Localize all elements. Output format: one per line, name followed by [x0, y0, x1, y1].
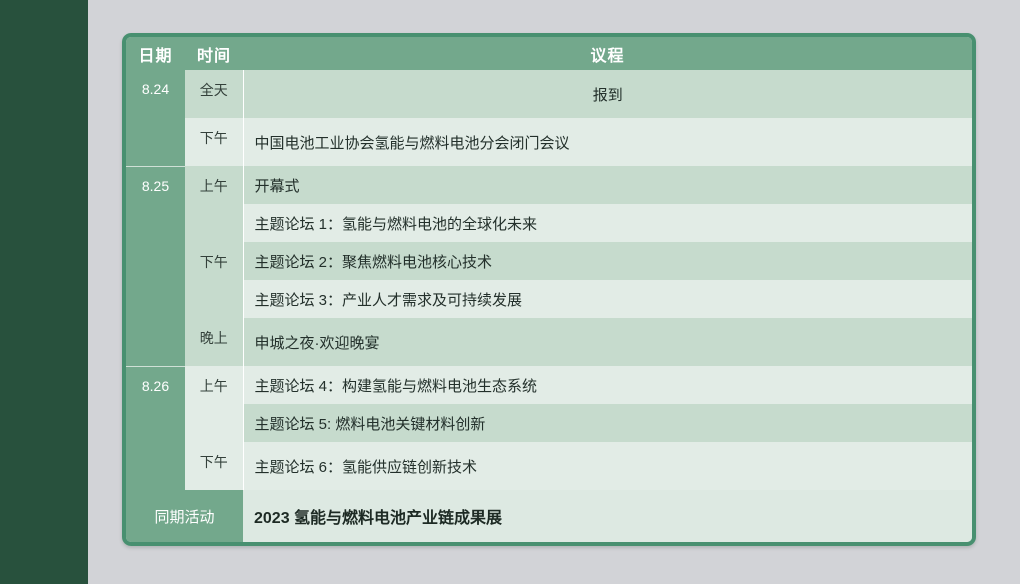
- agenda-cell: 报到: [243, 70, 972, 118]
- concurrent-event-agenda: 2023 氢能与燃料电池产业链成果展: [243, 490, 972, 542]
- table-row: 主题论坛 5: 燃料电池关键材料创新: [126, 404, 972, 442]
- time-cell: 下午: [185, 242, 243, 318]
- date-cell-825: 8.25: [126, 166, 185, 366]
- column-header-date: 日期: [126, 37, 185, 70]
- table-row: 8.25 上午 开幕式: [126, 166, 972, 204]
- table-row: 下午 中国电池工业协会氢能与燃料电池分会闭门会议: [126, 118, 972, 166]
- time-cell: 下午: [185, 442, 243, 490]
- time-cell: 下午: [185, 118, 243, 166]
- table-row: 下午 主题论坛 2：聚焦燃料电池核心技术: [126, 242, 972, 280]
- agenda-cell: 主题论坛 5: 燃料电池关键材料创新: [243, 404, 972, 442]
- agenda-cell: 主题论坛 4：构建氢能与燃料电池生态系统: [243, 366, 972, 404]
- agenda-cell: 中国电池工业协会氢能与燃料电池分会闭门会议: [243, 118, 972, 166]
- header-row: 日期 时间 议程: [126, 37, 972, 70]
- time-cell: 上午: [185, 166, 243, 242]
- time-cell: 晚上: [185, 318, 243, 366]
- date-cell-824: 8.24: [126, 70, 185, 166]
- table-row: 8.24 全天 报到: [126, 70, 972, 118]
- table-row: 主题论坛 3：产业人才需求及可持续发展: [126, 280, 972, 318]
- concurrent-event-row: 同期活动 2023 氢能与燃料电池产业链成果展: [126, 490, 972, 542]
- schedule-card: 日期 时间 议程 8.24 全天 报到 下午 中国电池工业协会氢能与燃料电池分会…: [122, 33, 976, 546]
- agenda-cell: 主题论坛 1：氢能与燃料电池的全球化未来: [243, 204, 972, 242]
- date-cell-826: 8.26: [126, 366, 185, 490]
- agenda-schedule-table: 日期 时间 议程 8.24 全天 报到 下午 中国电池工业协会氢能与燃料电池分会…: [126, 37, 972, 542]
- table-body: 8.24 全天 报到 下午 中国电池工业协会氢能与燃料电池分会闭门会议 8.25…: [126, 70, 972, 542]
- table-row: 下午 主题论坛 6：氢能供应链创新技术: [126, 442, 972, 490]
- column-header-time: 时间: [185, 37, 243, 70]
- concurrent-event-label: 同期活动: [126, 490, 243, 542]
- left-sidebar-strip: [0, 0, 88, 584]
- agenda-cell: 主题论坛 3：产业人才需求及可持续发展: [243, 280, 972, 318]
- time-cell: 全天: [185, 70, 243, 118]
- table-row: 晚上 申城之夜·欢迎晚宴: [126, 318, 972, 366]
- agenda-cell: 申城之夜·欢迎晚宴: [243, 318, 972, 366]
- table-row: 8.26 上午 主题论坛 4：构建氢能与燃料电池生态系统: [126, 366, 972, 404]
- table-header: 日期 时间 议程: [126, 37, 972, 70]
- table-row: 主题论坛 1：氢能与燃料电池的全球化未来: [126, 204, 972, 242]
- agenda-cell: 主题论坛 2：聚焦燃料电池核心技术: [243, 242, 972, 280]
- agenda-cell: 主题论坛 6：氢能供应链创新技术: [243, 442, 972, 490]
- agenda-cell: 开幕式: [243, 166, 972, 204]
- column-header-agenda: 议程: [243, 37, 972, 70]
- time-cell: 上午: [185, 366, 243, 442]
